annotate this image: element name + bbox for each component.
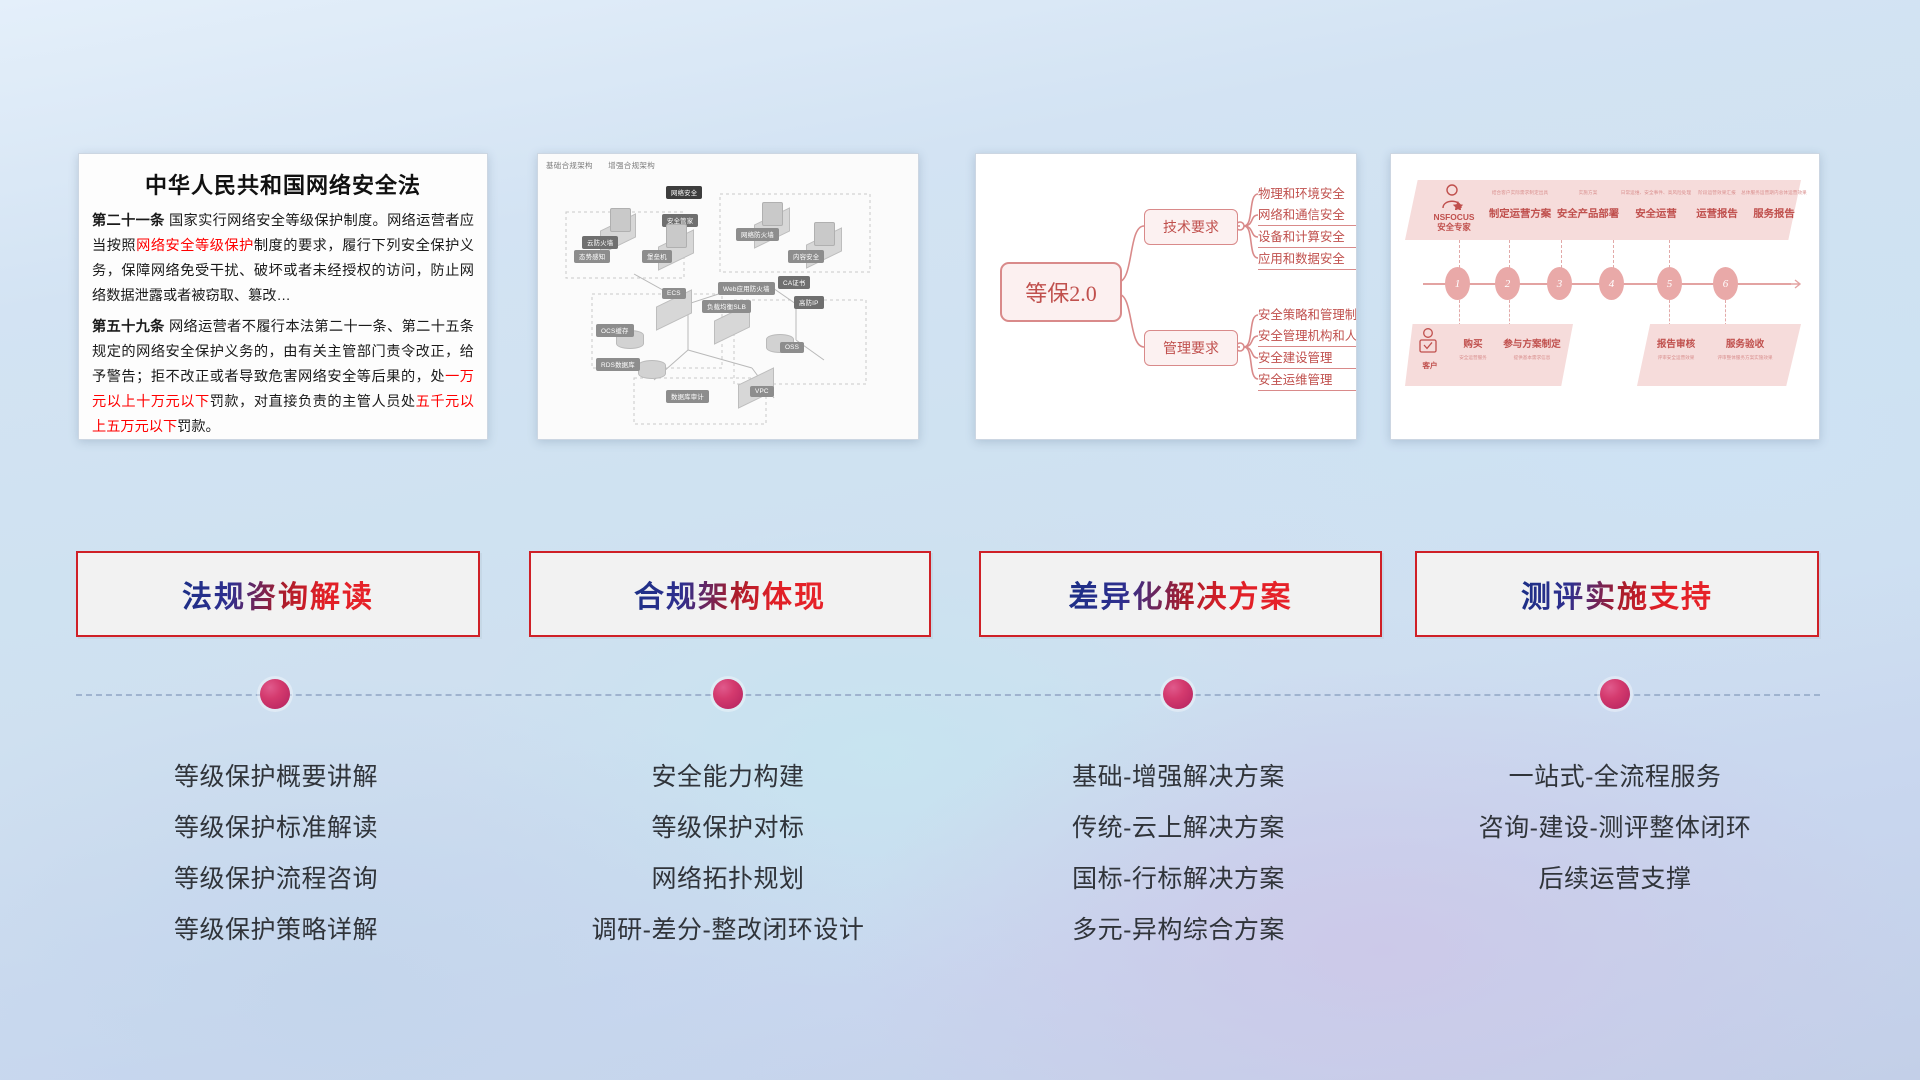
nsfocus-client-action-4: 服务验收 评审整体服务方案实施效果 xyxy=(1707,336,1783,361)
nsfocus-marker-3[interactable]: 3 xyxy=(1547,267,1572,300)
bullet-column-1: 等级保护概要讲解 等级保护标准解读 等级保护流程咨询 等级保护策略详解 xyxy=(76,752,476,956)
bullet-column-2: 安全能力构建 等级保护对标 网络拓扑规划 调研-差分-整改闭环设计 xyxy=(529,752,927,956)
slide-canvas: 中华人民共和国网络安全法 第二十一条 国家实行网络安全等级保护制度。网络运营者应… xyxy=(0,0,1920,1080)
list-item: 基础-增强解决方案 xyxy=(979,752,1378,803)
heading-label-4: 测评实施支持 xyxy=(1521,572,1713,616)
mindmap: 等保2.0 技术要求 管理要求 物理和环境安全 网络和通信安全 设备和计算安全 … xyxy=(976,154,1356,439)
list-item: 多元-异构综合方案 xyxy=(979,905,1378,956)
nsfocus-client-action-2: 参与方案制定 提供基本需求信息 xyxy=(1495,336,1569,361)
leader-line-4 xyxy=(1613,240,1615,268)
leader-line-9 xyxy=(1725,300,1727,326)
timeline-node-1[interactable] xyxy=(260,679,290,709)
list-item: 咨询-建设-测评整体闭环 xyxy=(1415,803,1815,854)
law-body: 第二十一条 国家实行网络安全等级保护制度。网络运营者应当按照网络安全等级保护制度… xyxy=(79,209,487,440)
leader-line-3 xyxy=(1561,240,1563,268)
leader-line-2 xyxy=(1509,240,1511,268)
node-content-security: 内容安全 xyxy=(788,250,824,263)
bullet-column-4: 一站式-全流程服务 咨询-建设-测评整体闭环 后续运营支撑 xyxy=(1415,752,1815,905)
mindmap-branch-management[interactable]: 管理要求 xyxy=(1144,330,1238,366)
mindmap-leaf-tech-4: 应用和数据安全 xyxy=(1258,249,1357,270)
nsfocus-client-label: 客户 xyxy=(1413,360,1447,371)
list-item: 等级保护流程咨询 xyxy=(76,854,476,905)
node-network-security: 网络安全 xyxy=(666,186,702,199)
list-item: 传统-云上解决方案 xyxy=(979,803,1378,854)
node-network-firewall: 网络防火墙 xyxy=(736,228,779,241)
heading-box-3[interactable]: 差异化解决方案 xyxy=(979,551,1382,637)
leader-line-8 xyxy=(1669,300,1671,326)
node-situational-awareness: 态势感知 xyxy=(574,250,610,263)
list-item: 调研-差分-整改闭环设计 xyxy=(529,905,927,956)
list-item: 等级保护对标 xyxy=(529,803,927,854)
nsfocus-marker-4[interactable]: 4 xyxy=(1599,267,1624,300)
law-article-59: 第五十九条 网络运营者不履行本法第二十一条、第二十五条规定的网络安全保护义务的，… xyxy=(92,315,474,440)
node-ecs: ECS xyxy=(662,288,686,299)
nsfocus-step-5: 总体服务运营期内总体运营效果 服务报告 xyxy=(1735,190,1813,220)
nsfocus-client-action-1-sub: 安全运营服务 xyxy=(1453,355,1493,361)
node-cloud-firewall: 云防火墙 xyxy=(582,236,618,249)
nsfocus-marker-1[interactable]: 1 xyxy=(1445,267,1470,300)
timeline-node-3[interactable] xyxy=(1163,679,1193,709)
expert-person-icon xyxy=(1437,184,1467,210)
article-59-text-c: 罚款。 xyxy=(177,419,220,435)
nsfocus-step-1-sub: 结合客户实际需求制定出具 xyxy=(1483,190,1557,196)
node-rds: RDS数据库 xyxy=(596,358,640,371)
node-db-audit: 数据库审计 xyxy=(666,390,709,403)
nsfocus-client-action-2-main: 参与方案制定 xyxy=(1495,336,1569,350)
article-59-label: 第五十九条 xyxy=(92,319,165,335)
mindmap-branch-technical[interactable]: 技术要求 xyxy=(1144,209,1238,245)
nsfocus-step-2: 实施方案 安全产品部署 xyxy=(1551,190,1625,220)
list-item: 等级保护概要讲解 xyxy=(76,752,476,803)
heading-box-2[interactable]: 合规架构体现 xyxy=(529,551,931,637)
nsfocus-client-action-3-sub: 评审安全运营效果 xyxy=(1643,355,1709,361)
mindmap-leaf-mgmt-4: 安全运维管理 xyxy=(1258,370,1357,391)
list-item: 网络拓扑规划 xyxy=(529,854,927,905)
list-item: 安全能力构建 xyxy=(529,752,927,803)
timeline-dashed-line xyxy=(76,694,1820,698)
nsfocus-step-1: 结合客户实际需求制定出具 制定运营方案 xyxy=(1483,190,1557,220)
nsfocus-client-action-4-sub: 评审整体服务方案实施效果 xyxy=(1707,355,1783,361)
mindmap-leaf-tech-1: 物理和环境安全 xyxy=(1258,184,1357,204)
iso-box-c xyxy=(762,202,783,226)
mindmap-leaf-mgmt-1: 安全策略和管理制度 xyxy=(1258,305,1357,325)
heading-box-1[interactable]: 法规咨询解读 xyxy=(76,551,480,637)
nsfocus-client-action-4-main: 服务验收 xyxy=(1707,336,1783,350)
nsfocus-client-action-3: 报告审核 评审安全运营效果 xyxy=(1643,336,1709,361)
nsfocus-client-action-3-main: 报告审核 xyxy=(1643,336,1709,350)
article-21-highlight: 网络安全等级保护 xyxy=(136,238,254,254)
nsfocus-marker-5[interactable]: 5 xyxy=(1657,267,1682,300)
leader-line-6 xyxy=(1459,300,1461,326)
mindmap-leaf-tech-3: 设备和计算安全 xyxy=(1258,227,1357,248)
list-item: 等级保护策略详解 xyxy=(76,905,476,956)
mindmap-leaf-mgmt-2: 安全管理机构和人员 xyxy=(1258,326,1357,347)
nsfocus-timeline: NSFOCUS 安全专家 结合客户实际需求制定出具 制定运营方案 实施方案 安全… xyxy=(1391,154,1819,439)
bullet-column-3: 基础-增强解决方案 传统-云上解决方案 国标-行标解决方案 多元-异构综合方案 xyxy=(979,752,1378,956)
nsfocus-client-action-1-main: 购买 xyxy=(1453,336,1493,350)
iso-box-b xyxy=(666,224,687,248)
mindmap-leaf-mgmt-3: 安全建设管理 xyxy=(1258,348,1357,369)
list-item: 一站式-全流程服务 xyxy=(1415,752,1815,803)
arrow-right-icon xyxy=(1789,278,1803,290)
mindmap-leaf-tech-2: 网络和通信安全 xyxy=(1258,205,1357,226)
architecture-connectors xyxy=(538,154,918,439)
nsfocus-client-action-1: 购买 安全运营服务 xyxy=(1453,336,1493,361)
nsfocus-step-5-main: 服务报告 xyxy=(1735,205,1813,220)
article-59-text-b: 罚款，对直接负责的主管人员处 xyxy=(210,394,416,410)
nsfocus-marker-2[interactable]: 2 xyxy=(1495,267,1520,300)
heading-label-2: 合规架构体现 xyxy=(634,572,826,616)
law-article-21: 第二十一条 国家实行网络安全等级保护制度。网络运营者应当按照网络安全等级保护制度… xyxy=(92,209,474,309)
list-item: 国标-行标解决方案 xyxy=(979,854,1378,905)
node-ocs-cache: OCS缓存 xyxy=(596,324,634,337)
leader-line-5 xyxy=(1669,240,1671,268)
heading-box-4[interactable]: 测评实施支持 xyxy=(1415,551,1819,637)
client-person-icon xyxy=(1417,328,1439,358)
iso-box-d xyxy=(814,222,835,246)
iso-box-a xyxy=(610,208,631,232)
nsfocus-marker-6[interactable]: 6 xyxy=(1713,267,1738,300)
heading-label-1: 法规咨询解读 xyxy=(182,572,374,616)
nsfocus-step-1-main: 制定运营方案 xyxy=(1483,205,1557,220)
card-cybersecurity-law: 中华人民共和国网络安全法 第二十一条 国家实行网络安全等级保护制度。网络运营者应… xyxy=(78,153,488,440)
card-compliance-architecture: 基础合规架构 增强合规架构 xyxy=(537,153,919,440)
cylinder-rds xyxy=(638,360,666,379)
list-item: 后续运营支撑 xyxy=(1415,854,1815,905)
node-bastion-host: 堡垒机 xyxy=(642,250,672,263)
card-dengbao-mindmap: 等保2.0 技术要求 管理要求 物理和环境安全 网络和通信安全 设备和计算安全 … xyxy=(975,153,1357,440)
list-item: 等级保护标准解读 xyxy=(76,803,476,854)
node-waf: Web应用防火墙 xyxy=(718,282,775,295)
nsfocus-step-2-main: 安全产品部署 xyxy=(1551,205,1625,220)
nsfocus-brand-name: NSFOCUS xyxy=(1423,212,1485,222)
heading-label-3: 差异化解决方案 xyxy=(1069,572,1293,616)
nsfocus-client-action-2-sub: 提供基本需求信息 xyxy=(1495,355,1569,361)
node-anti-ddos-ip: 高防IP xyxy=(794,296,824,309)
timeline-node-4[interactable] xyxy=(1600,679,1630,709)
nsfocus-step-2-sub: 实施方案 xyxy=(1551,190,1625,196)
leader-line-7 xyxy=(1509,300,1511,326)
node-ca-certificate: CA证书 xyxy=(778,276,810,289)
mindmap-root-node[interactable]: 等保2.0 xyxy=(1000,262,1122,322)
nsfocus-brand: NSFOCUS 安全专家 xyxy=(1423,212,1485,232)
node-slb: 负载均衡SLB xyxy=(702,300,751,313)
node-vpc: VPC xyxy=(750,386,774,397)
article-21-label: 第二十一条 xyxy=(92,213,165,229)
law-title: 中华人民共和国网络安全法 xyxy=(79,168,487,200)
node-oss: OSS xyxy=(780,342,804,353)
architecture-diagram: 基础合规架构 增强合规架构 xyxy=(538,154,918,439)
leader-line-1 xyxy=(1459,240,1461,268)
card-nsfocus-service-timeline: NSFOCUS 安全专家 结合客户实际需求制定出具 制定运营方案 实施方案 安全… xyxy=(1390,153,1820,440)
nsfocus-brand-sub: 安全专家 xyxy=(1423,222,1485,232)
nsfocus-step-5-sub: 总体服务运营期内总体运营效果 xyxy=(1735,190,1813,196)
timeline-node-2[interactable] xyxy=(713,679,743,709)
